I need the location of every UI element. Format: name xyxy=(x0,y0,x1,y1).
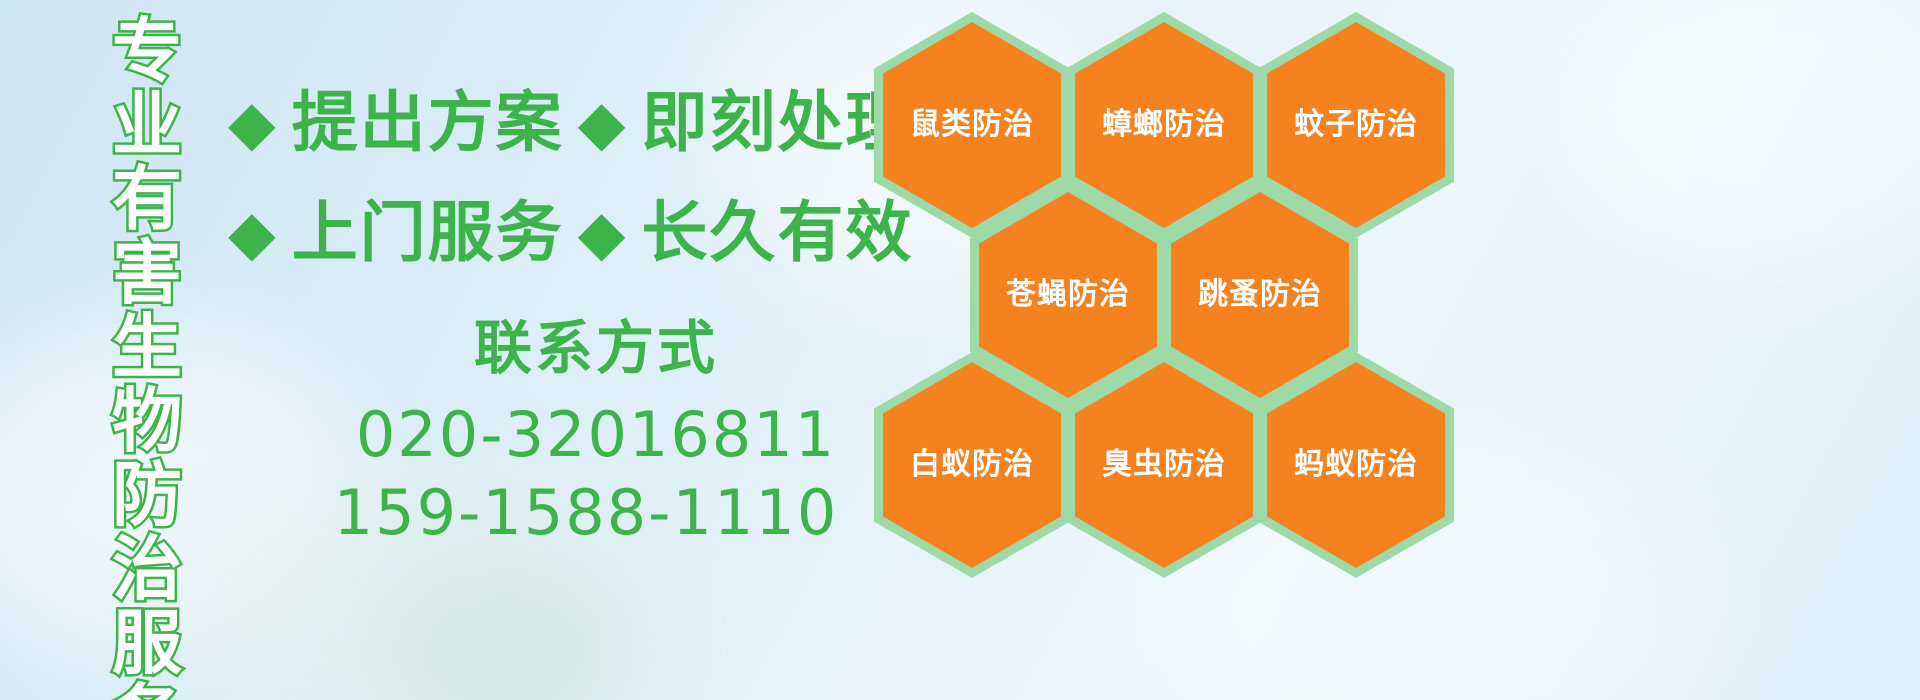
service-hexagon-label: 蟑螂防治 xyxy=(1102,108,1226,142)
service-hexagon-label: 臭虫防治 xyxy=(1102,448,1226,482)
vertical-headline-char: 物 xyxy=(112,384,182,458)
diamond-bullet-icon: ◆ xyxy=(228,197,276,269)
vertical-headline-char: 防 xyxy=(112,458,182,532)
diamond-bullet-icon: ◆ xyxy=(578,87,626,159)
feature-row-2: ◆ 上门服务 ◆ 长久有效 xyxy=(228,196,913,270)
pest-control-banner: 专 业 有 害 生 物 防 治 服 务 ◆ 提出方案 ◆ 即刻处理 ◆ 上门服务… xyxy=(0,0,1920,700)
vertical-headline-char: 治 xyxy=(112,532,182,606)
vertical-headline-char: 务 xyxy=(112,680,182,700)
feature-label: 上门服务 xyxy=(292,196,564,270)
service-honeycomb: 鼠类防治 蟑螂防治 蚊子防治 苍蝇防治 跳蚤防治 白蚁防治 臭虫防治 蚂蚁 xyxy=(860,0,1460,700)
vertical-headline-char: 有 xyxy=(112,162,182,236)
service-hexagon-label: 鼠类防治 xyxy=(910,108,1034,142)
contact-title: 联系方式 xyxy=(424,316,768,380)
service-hexagon-label: 白蚁防治 xyxy=(910,448,1034,482)
service-hexagon-label: 跳蚤防治 xyxy=(1198,278,1322,312)
vertical-headline-char: 服 xyxy=(112,606,182,680)
service-hexagon-label: 蚊子防治 xyxy=(1294,108,1418,142)
background-glow-blob xyxy=(380,560,640,700)
background-glow-blob xyxy=(1560,0,1920,270)
vertical-headline: 专 业 有 害 生 物 防 治 服 务 xyxy=(104,14,190,686)
service-hexagon-label: 苍蝇防治 xyxy=(1006,278,1130,312)
feature-row-1: ◆ 提出方案 ◆ 即刻处理 xyxy=(228,86,913,160)
contact-phone-mobile[interactable]: 159-1588-1110 xyxy=(312,478,860,548)
feature-label: 提出方案 xyxy=(292,86,564,160)
diamond-bullet-icon: ◆ xyxy=(578,197,626,269)
diamond-bullet-icon: ◆ xyxy=(228,87,276,159)
vertical-headline-char: 害 xyxy=(112,236,182,310)
service-hexagon-label: 蚂蚁防治 xyxy=(1294,448,1418,482)
vertical-headline-char: 生 xyxy=(112,310,182,384)
vertical-headline-char: 业 xyxy=(112,88,182,162)
contact-phone-landline[interactable]: 020-32016811 xyxy=(322,400,870,470)
vertical-headline-char: 专 xyxy=(112,14,182,88)
